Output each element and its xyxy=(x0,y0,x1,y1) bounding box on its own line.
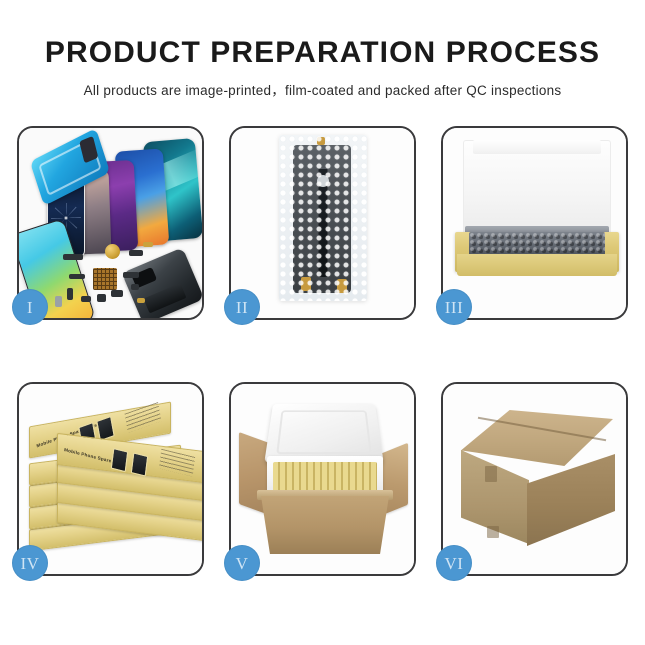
foam-box-lid xyxy=(264,404,384,463)
step-caption-2: Each part sealed in bubble wrap bag xyxy=(231,128,232,129)
carton-right-face xyxy=(527,454,615,546)
box-stack: Mobile Phone Spare Parts Mobile Phone Sp… xyxy=(27,398,202,558)
box-label-lines xyxy=(159,449,195,477)
spare-part-flex-gold xyxy=(137,298,145,303)
step-panel-2[interactable]: II Each part sealed in bubble wrap bag xyxy=(229,126,416,320)
phone-back-housing xyxy=(122,247,202,318)
step-panel-6[interactable]: VI Sealed carton ready for shipping xyxy=(441,382,628,576)
kraft-box-front xyxy=(457,254,617,276)
step-badge-3: III xyxy=(436,289,472,325)
step-image-5 xyxy=(231,384,414,574)
spare-part-chip xyxy=(63,254,83,260)
spare-part-coin xyxy=(105,244,120,259)
carton-tab-lower xyxy=(487,526,499,538)
step-panel-5[interactable]: V Packed into foam box inside outer cart… xyxy=(229,382,416,576)
step-image-3 xyxy=(443,128,626,318)
spare-part-connector xyxy=(55,296,62,307)
bubble-texture xyxy=(279,135,367,301)
step-panel-1[interactable]: I Mobile phone screens, LCD assemblies a… xyxy=(17,126,204,320)
step-panel-3[interactable]: III Placed into kraft box with protectiv… xyxy=(441,126,628,320)
step-caption-4: Boxes stacked and labelled xyxy=(19,384,20,385)
step-image-4: Mobile Phone Spare Parts Mobile Phone Sp… xyxy=(19,384,202,574)
step-badge-5: V xyxy=(224,545,260,581)
spare-part-chip xyxy=(97,294,106,302)
box-label-thumbnail xyxy=(111,448,128,472)
spare-part-flex-gold xyxy=(143,242,153,247)
step-badge-4: IV xyxy=(12,545,48,581)
header: PRODUCT PREPARATION PROCESS All products… xyxy=(0,0,645,99)
step-image-1 xyxy=(19,128,202,318)
step-badge-2: II xyxy=(224,289,260,325)
step-caption-5: Packed into foam box inside outer carton xyxy=(231,384,232,385)
bubble-wrap-bag xyxy=(279,135,367,301)
spare-part-chip xyxy=(129,250,143,256)
step-caption-1: Mobile phone screens, LCD assemblies and… xyxy=(19,128,20,129)
process-steps-grid: I Mobile phone screens, LCD assemblies a… xyxy=(17,126,628,576)
spare-part-chip xyxy=(131,284,139,290)
spare-part-mesh xyxy=(93,268,117,290)
box-label-lines xyxy=(125,402,162,433)
box-label-thumbnail xyxy=(131,452,148,476)
step-panel-4[interactable]: Mobile Phone Spare Parts Mobile Phone Sp… xyxy=(17,382,204,576)
spare-part-chip xyxy=(67,288,73,300)
spare-part-chip xyxy=(111,290,123,297)
spare-part-chip xyxy=(69,274,85,279)
step-badge-1: I xyxy=(12,289,48,325)
page-subtitle: All products are image-printed，film-coat… xyxy=(0,79,645,99)
outer-carton-open xyxy=(261,496,389,554)
step-caption-3: Placed into kraft box with protective fo… xyxy=(443,128,444,129)
step-image-2 xyxy=(231,128,414,318)
step-badge-6: VI xyxy=(436,545,472,581)
spare-part-chip xyxy=(123,272,139,278)
carton-tab-upper xyxy=(485,466,497,482)
step-caption-6: Sealed carton ready for shipping xyxy=(443,384,444,385)
page-title: PRODUCT PREPARATION PROCESS xyxy=(0,36,645,70)
step-image-6 xyxy=(443,384,626,574)
spare-part-chip xyxy=(81,296,91,302)
product-preparation-infographic: PRODUCT PREPARATION PROCESS All products… xyxy=(0,0,645,645)
